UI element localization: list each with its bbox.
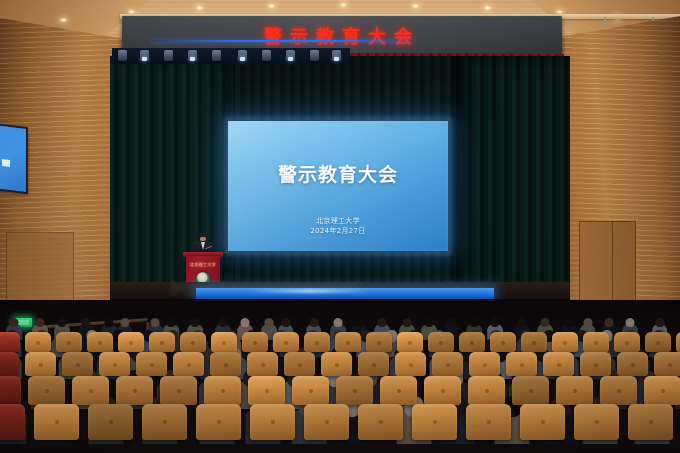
seat-knob xyxy=(372,363,376,367)
seat-knob xyxy=(109,420,113,424)
seat-knob xyxy=(133,389,137,393)
slide-date: 2024年2月27日 xyxy=(228,226,448,236)
stage-light-icon xyxy=(212,50,221,61)
seat-knob xyxy=(408,341,412,345)
rail-hanger xyxy=(604,17,606,25)
banner-blue-light-strip xyxy=(152,40,414,42)
audience-member-head xyxy=(425,318,434,327)
auditorium-seat xyxy=(490,332,516,352)
audience-member-head xyxy=(605,318,614,327)
auditorium-seat xyxy=(459,332,485,352)
podium-sign-text: 北京理工大学 xyxy=(186,262,220,268)
audience-member-head xyxy=(120,318,129,327)
audience-member-head xyxy=(517,318,526,327)
seat-knob xyxy=(483,363,487,367)
stage-curtain-right xyxy=(452,56,570,300)
seat-knob xyxy=(625,341,629,345)
auditorium-seat xyxy=(211,332,237,352)
auditorium-seat xyxy=(397,332,423,352)
auditorium-seat xyxy=(247,352,278,376)
audience-member-head xyxy=(36,318,45,327)
downlight-icon xyxy=(340,3,347,7)
auditorium-seat xyxy=(142,404,187,440)
seat-knob xyxy=(529,389,533,393)
downlight-icon xyxy=(412,4,419,8)
seat-knob xyxy=(446,363,450,367)
auditorium-seat xyxy=(628,404,673,440)
seat-knob xyxy=(433,420,437,424)
seat-knob xyxy=(668,363,672,367)
auditorium-seat xyxy=(380,376,417,405)
seat-knob xyxy=(89,389,93,393)
audience-member-head xyxy=(541,318,550,327)
auditorium-seat xyxy=(543,352,574,376)
apron-led-highlight xyxy=(250,289,370,293)
side-monitor-content xyxy=(2,159,10,167)
auditorium-seat xyxy=(469,352,500,376)
audience-member-head xyxy=(626,318,635,327)
seat-knob xyxy=(129,341,133,345)
led-banner-text: 警示教育大会 xyxy=(122,23,562,49)
auditorium-seat xyxy=(88,404,133,440)
seat-knob xyxy=(98,341,102,345)
seat-knob xyxy=(36,341,40,345)
auditorium-seat xyxy=(428,332,454,352)
seat-knob xyxy=(617,389,621,393)
seat-knob xyxy=(563,341,567,345)
slide-title: 警示教育大会 xyxy=(228,160,448,187)
downlight-icon xyxy=(196,6,203,10)
auditorium-seat xyxy=(196,404,241,440)
audience-member-head xyxy=(470,318,479,327)
seat-knob xyxy=(5,341,9,345)
auditorium-seat xyxy=(424,376,461,405)
audience-member-head xyxy=(333,318,342,327)
seat-knob xyxy=(325,420,329,424)
seat-knob xyxy=(485,389,489,393)
auditorium-seat xyxy=(284,352,315,376)
seat-knob xyxy=(55,420,59,424)
auditorium-seat xyxy=(645,332,671,352)
seat-knob xyxy=(191,341,195,345)
seat-knob xyxy=(222,341,226,345)
auditorium-seat xyxy=(180,332,206,352)
speaker-face xyxy=(200,237,206,241)
seat-knob xyxy=(163,420,167,424)
auditorium-seat xyxy=(466,404,511,440)
auditorium-seat xyxy=(56,332,82,352)
seat-knob xyxy=(221,389,225,393)
audience-member-head xyxy=(82,318,91,327)
lighting-truss xyxy=(112,48,350,64)
seat-knob xyxy=(335,363,339,367)
seat-knob xyxy=(377,341,381,345)
seat-knob xyxy=(309,389,313,393)
seat-knob xyxy=(45,389,49,393)
seat-knob xyxy=(379,420,383,424)
seat-knob xyxy=(160,341,164,345)
auditorium-seat xyxy=(0,332,20,352)
stage-light-icon xyxy=(262,50,271,61)
auditorium-seat xyxy=(412,404,457,440)
auditorium-seat xyxy=(468,376,505,405)
seat-knob xyxy=(487,420,491,424)
auditorium-seat xyxy=(552,332,578,352)
audience-member-head xyxy=(191,318,200,327)
audience-member-head xyxy=(264,318,273,327)
seat-knob xyxy=(594,341,598,345)
seat-knob xyxy=(67,341,71,345)
auditorium-seat xyxy=(0,352,19,376)
seat-knob xyxy=(353,389,357,393)
audience-member-head xyxy=(490,318,499,327)
auditorium-seat xyxy=(395,352,426,376)
seat-knob xyxy=(76,363,80,367)
auditorium-seat xyxy=(512,376,549,405)
seat-knob xyxy=(265,389,269,393)
auditorium-seat xyxy=(204,376,241,405)
auditorium-seat xyxy=(336,376,373,405)
auditorium-seat xyxy=(574,404,619,440)
stage-light-icon xyxy=(238,50,247,61)
auditorium-seat xyxy=(614,332,640,352)
audience-member-head xyxy=(10,318,19,327)
auditorium-seat xyxy=(116,376,153,405)
auditorium-seat xyxy=(583,332,609,352)
seat-knob xyxy=(1,389,5,393)
seat-knob xyxy=(187,363,191,367)
auditorium-seat xyxy=(520,404,565,440)
auditorium-seat xyxy=(118,332,144,352)
audience-member-head xyxy=(309,318,318,327)
slide-organization: 北京理工大学 xyxy=(228,216,448,226)
audience-member-head xyxy=(241,318,250,327)
auditorium-seat xyxy=(432,352,463,376)
auditorium-seat xyxy=(521,332,547,352)
audience-member-head xyxy=(354,318,363,327)
auditorium-seat xyxy=(136,352,167,376)
auditorium-photo: 警示教育大会 警示教育大会 北京理工大学 2024年2月27日 北京理工大学 xyxy=(0,0,680,453)
auditorium-seat xyxy=(304,404,349,440)
audience-member-head xyxy=(58,318,67,327)
seat-knob xyxy=(298,363,302,367)
seat-knob xyxy=(532,341,536,345)
slide-subtitle: 北京理工大学 2024年2月27日 xyxy=(228,216,448,236)
auditorium-seat xyxy=(358,352,389,376)
stage-light-icon xyxy=(332,50,341,61)
stage-light-icon xyxy=(188,50,197,61)
auditorium-seat xyxy=(28,376,65,405)
auditorium-seat xyxy=(242,332,268,352)
stage-light-icon xyxy=(286,50,295,61)
auditorium-seat xyxy=(25,352,56,376)
seat-knob xyxy=(253,341,257,345)
downlight-icon xyxy=(60,18,67,22)
audience-member-head xyxy=(564,318,573,327)
audience-member-head xyxy=(281,318,290,327)
seat-knob xyxy=(541,420,545,424)
seat-knob xyxy=(520,363,524,367)
audience-member-head xyxy=(105,318,114,327)
auditorium-seat xyxy=(304,332,330,352)
seat-knob xyxy=(1,420,5,424)
seat-knob xyxy=(595,420,599,424)
stage-light-icon xyxy=(118,50,127,61)
auditorium-seat xyxy=(87,332,113,352)
auditorium-seat xyxy=(149,332,175,352)
auditorium-seat xyxy=(0,376,21,405)
audience-member-head xyxy=(378,318,387,327)
projection-screen: 警示教育大会 北京理工大学 2024年2月27日 xyxy=(228,121,448,251)
seat-knob xyxy=(501,341,505,345)
auditorium-seat xyxy=(600,376,637,405)
auditorium-seat xyxy=(358,404,403,440)
auditorium-seat xyxy=(617,352,648,376)
audience-member-head xyxy=(583,318,592,327)
audience-member-head xyxy=(655,318,664,327)
seat-knob xyxy=(113,363,117,367)
auditorium-seat xyxy=(0,404,25,440)
seat-knob xyxy=(177,389,181,393)
audience-member-head xyxy=(166,318,175,327)
auditorium-seat xyxy=(321,352,352,376)
seat-knob xyxy=(409,363,413,367)
downlight-icon xyxy=(268,4,275,8)
seat-knob xyxy=(557,363,561,367)
auditorium-seat xyxy=(273,332,299,352)
seat-knob xyxy=(150,363,154,367)
auditorium-seat xyxy=(250,404,295,440)
auditorium-seat xyxy=(248,376,285,405)
auditorium-seat xyxy=(292,376,329,405)
seat-knob xyxy=(439,341,443,345)
seat-knob xyxy=(661,389,665,393)
seat-knob xyxy=(39,363,43,367)
audience-member-head xyxy=(218,318,227,327)
auditorium-seat xyxy=(173,352,204,376)
auditorium-seat xyxy=(366,332,392,352)
seat-knob xyxy=(271,420,275,424)
seat-knob xyxy=(284,341,288,345)
seat-knob xyxy=(656,341,660,345)
auditorium-seat xyxy=(676,332,680,352)
seat-knob xyxy=(594,363,598,367)
audience-member-head xyxy=(403,318,412,327)
auditorium-seat xyxy=(160,376,197,405)
auditorium-seat xyxy=(99,352,130,376)
side-display-monitor xyxy=(0,125,26,192)
seat-knob xyxy=(573,389,577,393)
stage-light-icon xyxy=(140,50,149,61)
seat-knob xyxy=(217,420,221,424)
seat-knob xyxy=(261,363,265,367)
auditorium-seat xyxy=(654,352,680,376)
auditorium-seat xyxy=(580,352,611,376)
seat-knob xyxy=(2,363,6,367)
auditorium-seat xyxy=(72,376,109,405)
seat-knob xyxy=(397,389,401,393)
auditorium-seat xyxy=(34,404,79,440)
stage-curtain-left xyxy=(110,56,240,300)
auditorium-seat xyxy=(62,352,93,376)
auditorium-seat xyxy=(556,376,593,405)
stage-light-icon xyxy=(310,50,319,61)
audience-member-head xyxy=(150,318,159,327)
audience-member-head xyxy=(447,318,456,327)
auditorium-seat xyxy=(25,332,51,352)
auditorium-seat xyxy=(335,332,361,352)
downlight-icon xyxy=(484,6,491,10)
seat-knob xyxy=(315,341,319,345)
seat-knob xyxy=(631,363,635,367)
stage-light-icon xyxy=(164,50,173,61)
seat-knob xyxy=(441,389,445,393)
seat-knob xyxy=(224,363,228,367)
auditorium-seat xyxy=(644,376,680,405)
auditorium-seat xyxy=(210,352,241,376)
seat-knob xyxy=(346,341,350,345)
auditorium-seat xyxy=(506,352,537,376)
seat-knob xyxy=(649,420,653,424)
seat-knob xyxy=(470,341,474,345)
